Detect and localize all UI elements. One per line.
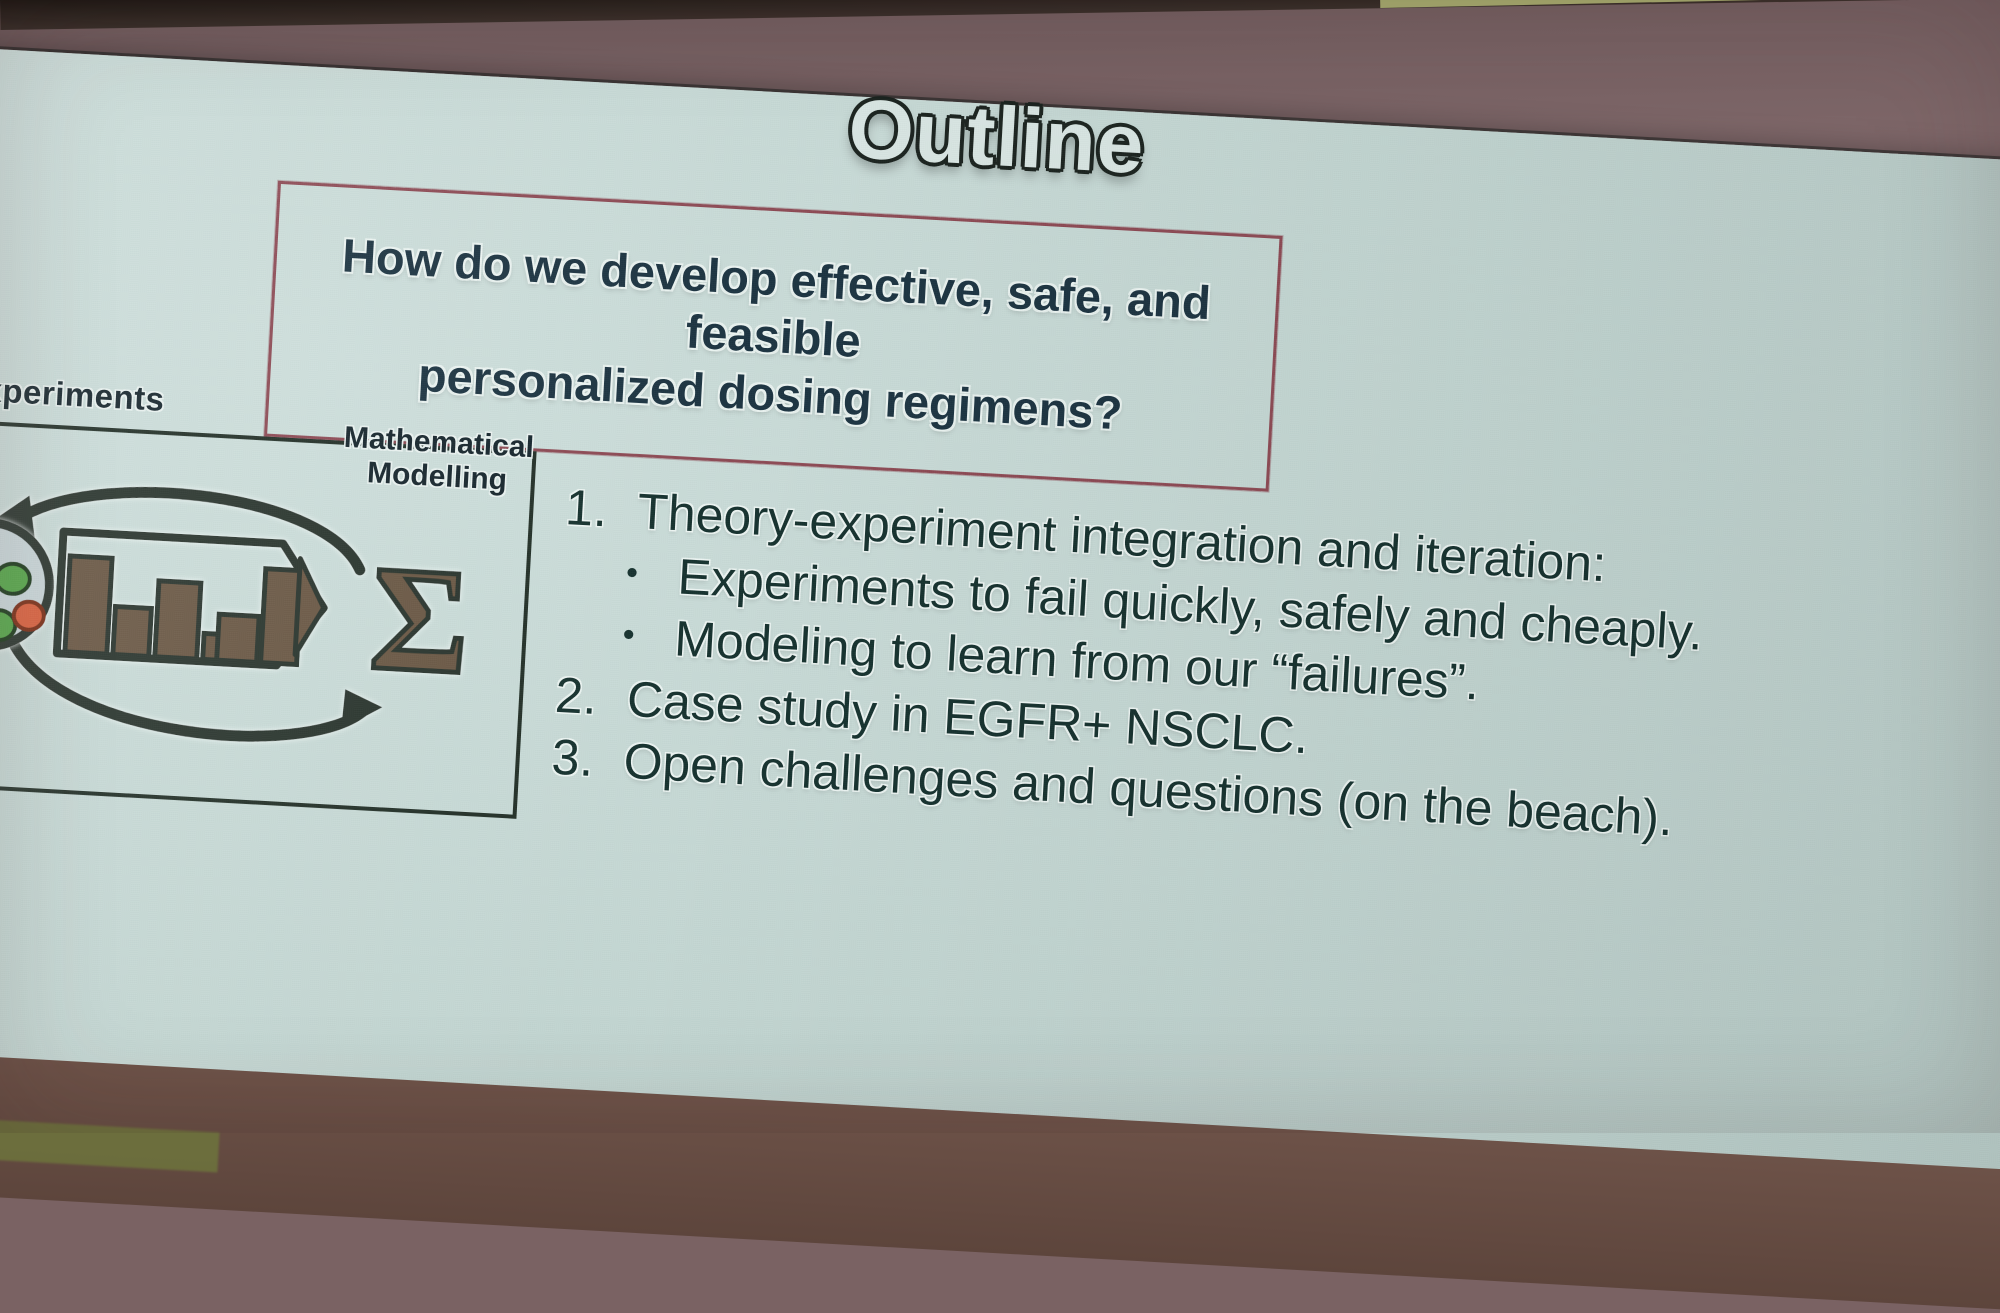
petri-dish-icon [0, 519, 53, 650]
arrow-model-to-experiment-icon [0, 483, 363, 569]
bullet-icon: • [625, 543, 680, 604]
list-marker: 3. [550, 727, 625, 791]
cycle-diagram-svg: Σ [0, 438, 528, 800]
list-marker: 2. [554, 664, 629, 728]
bar-chart-arrow-icon [57, 532, 327, 668]
list-marker: 1. [564, 477, 639, 541]
bullet-icon: • [621, 605, 676, 666]
question-line-1: How do we develop effective, safe, and f… [341, 228, 1212, 367]
projected-slide: Outline How do we develop effective, saf… [0, 46, 2000, 1171]
ceiling-shadow-band [0, 0, 2000, 30]
sigma-symbol-icon: Σ [367, 535, 474, 706]
question-text: How do we develop effective, safe, and f… [269, 223, 1277, 450]
